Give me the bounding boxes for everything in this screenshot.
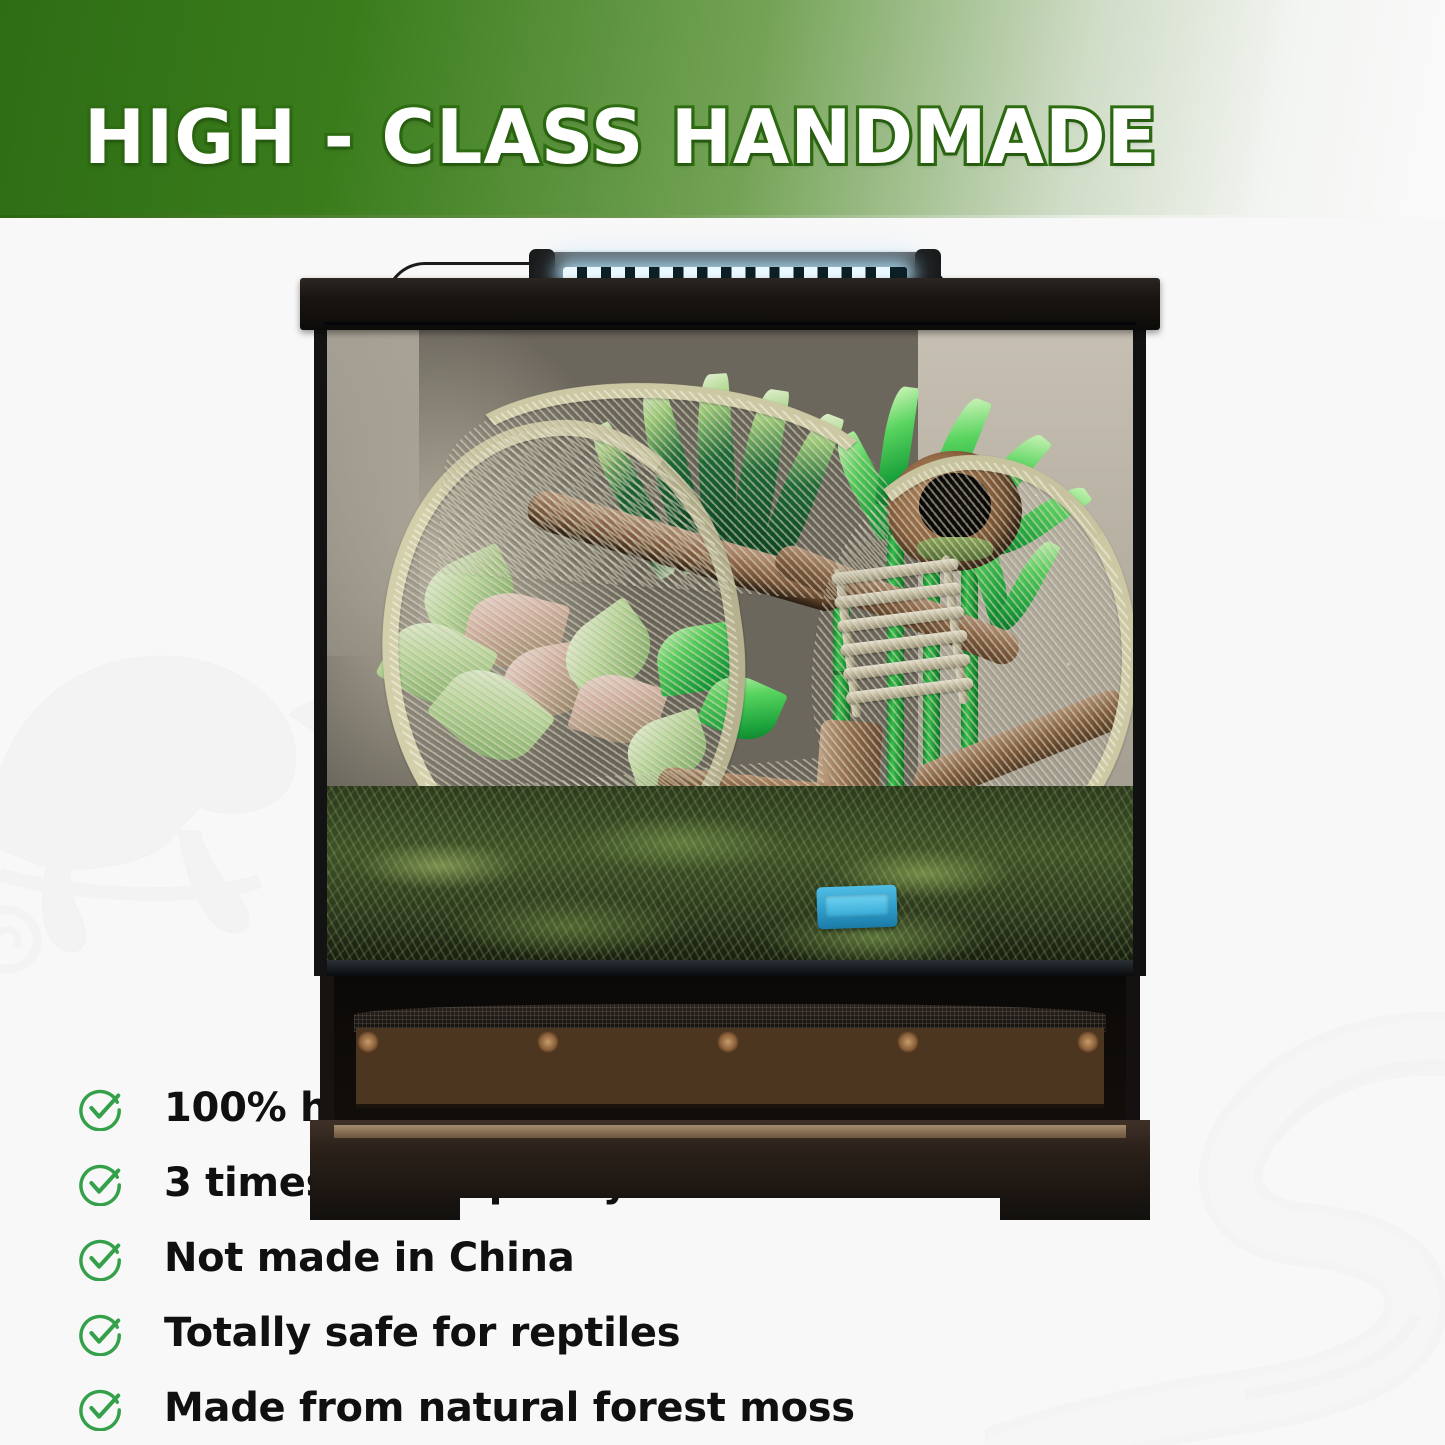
thermometer-hygrometer (816, 885, 897, 930)
feature-label: Made from natural forest moss (164, 1385, 855, 1431)
clay-pebble-drainage (356, 1028, 1104, 1108)
header-banner: HIGH - CLASS HANDMADE TANK ACCESSORIES (0, 0, 1445, 218)
page-title: HIGH - CLASS HANDMADE TANK ACCESSORIES (84, 27, 1218, 218)
moss-substrate-floor (327, 786, 1133, 976)
circle-check-icon (78, 1085, 124, 1131)
circle-check-icon (78, 1310, 124, 1356)
circle-check-icon (78, 1160, 124, 1206)
list-item: Not made in China (78, 1220, 1028, 1295)
title-line-1: HIGH - CLASS HANDMADE (84, 101, 1218, 175)
product-infographic-page: HIGH - CLASS HANDMADE TANK ACCESSORIES (0, 0, 1445, 1445)
tank-inner-bottom-trim (327, 960, 1133, 976)
drainage-layer-section (320, 976, 1140, 1126)
list-item: Totally safe for reptiles (78, 1295, 1028, 1370)
circle-check-icon (78, 1385, 124, 1431)
terrarium-product-photo (300, 236, 1160, 1036)
circle-check-icon (78, 1235, 124, 1281)
tank-interior-scene (327, 326, 1133, 976)
tank-glass-panel (314, 326, 1146, 976)
tank-hood-frame (300, 278, 1160, 330)
feature-label: Not made in China (164, 1235, 574, 1281)
stand-top-edge (334, 1125, 1126, 1138)
list-item: Made from natural forest moss (78, 1370, 1028, 1445)
thermometer-display (825, 894, 890, 918)
feature-label: Totally safe for reptiles (164, 1310, 680, 1356)
tank-stand-base (310, 1120, 1150, 1198)
